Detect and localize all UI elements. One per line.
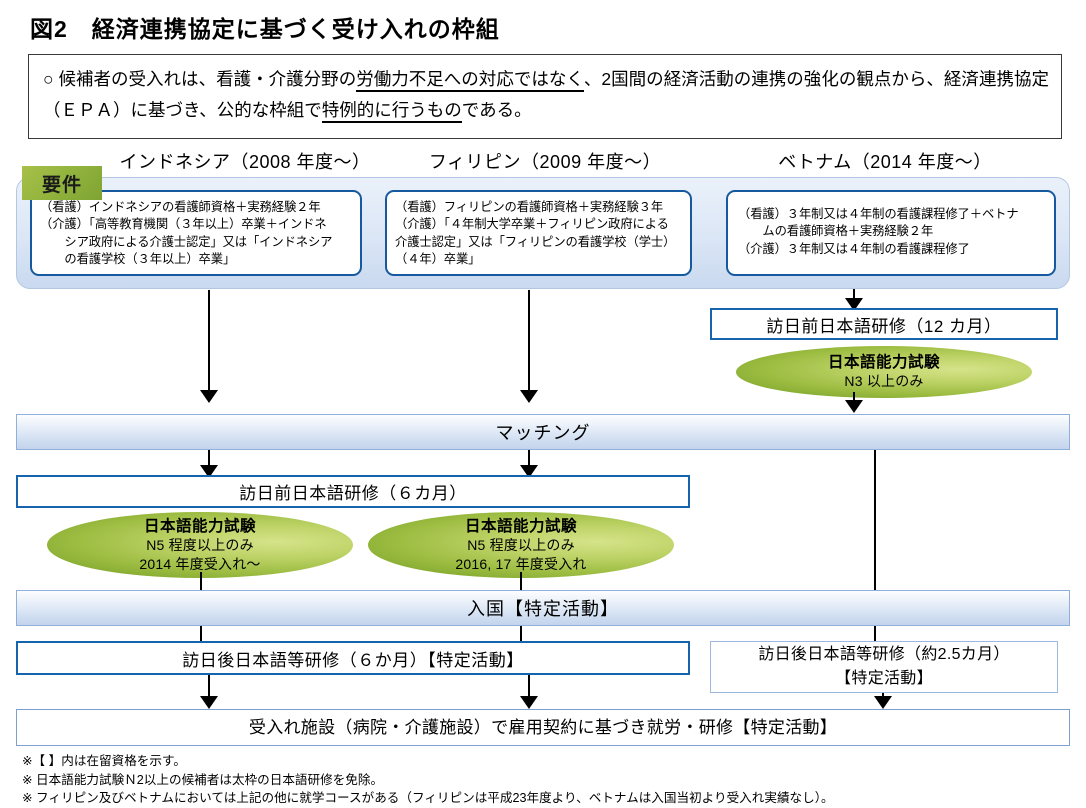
connector-post-vietnam-to-employment	[874, 693, 892, 709]
connector-indonesia-to-matching	[200, 290, 218, 403]
requirement-text-philippines: （看護）フィリピンの看護師資格＋実務経験３年（介護）「４年制大学卒業＋フィリピン…	[395, 199, 684, 269]
connector-matching-to-pretraining-indonesia	[200, 450, 218, 478]
footnotes: ※【 】内は在留資格を示す。 ※ 日本語能力試験Ｎ2以上の候補者は太枠の日本語研…	[22, 752, 1072, 808]
connector-vietnam-to-matching	[845, 392, 863, 413]
ellipse-jlpt-philippines: 日本語能力試験 N5 程度以上のみ 2016, 17 年度受入れ	[368, 512, 674, 578]
ellipse-vietnam-jlpt-line1: 日本語能力試験	[828, 353, 940, 372]
column-header-indonesia: インドネシア（2008 年度〜）	[95, 148, 395, 174]
footnote-3: ※ フィリピン及びベトナムにおいては上記の他に就学コースがある（フィリピンは平成…	[22, 789, 1072, 808]
ellipse-jlpt-indonesia: 日本語能力試験 N5 程度以上のみ 2014 年度受入れ〜	[47, 512, 353, 578]
lead-statement-box: ○ 候補者の受入れは、看護・介護分野の労働力不足への対応ではなく、2国間の経済活…	[28, 54, 1062, 139]
box-employment: 受入れ施設（病院・介護施設）で雇用契約に基づき就労・研修【特定活動】	[16, 709, 1070, 746]
connector-post-philippines-to-employment	[520, 675, 538, 709]
ellipse-jlpt-philippines-line2: N5 程度以上のみ	[467, 536, 575, 555]
bar-matching-label: マッチング	[496, 419, 591, 445]
footnote-1: ※【 】内は在留資格を示す。	[22, 752, 1072, 771]
ellipse-jlpt-indonesia-line2: N5 程度以上のみ	[146, 536, 254, 555]
ellipse-jlpt-indonesia-line1: 日本語能力試験	[144, 517, 256, 536]
requirement-text-indonesia: （看護）インドネシアの看護師資格＋実務経験２年（介護）「高等教育機関（３年以上）…	[40, 199, 354, 269]
lead-underline-2: 特例的に行うもの	[322, 100, 462, 123]
ellipse-jlpt-philippines-line1: 日本語能力試験	[465, 517, 577, 536]
lead-underline-1: 労働力不足への対応ではなく	[356, 69, 584, 92]
connector-philippines-to-matching	[520, 290, 538, 403]
box-employment-label: 受入れ施設（病院・介護施設）で雇用契約に基づき就労・研修【特定活動】	[249, 716, 837, 740]
box-post-training-2-5months-line2: 【特定活動】	[835, 667, 933, 691]
connector-jlpt-philippines-to-entry	[520, 572, 522, 590]
bar-entry: 入国【特定活動】	[16, 590, 1070, 626]
connector-jlpt-indonesia-to-entry	[200, 572, 202, 590]
box-pretraining-6months-label: 訪日前日本語研修（６カ月）	[239, 479, 467, 504]
column-header-philippines: フィリピン（2009 年度〜）	[400, 148, 690, 174]
requirement-box-philippines: （看護）フィリピンの看護師資格＋実務経験３年（介護）「４年制大学卒業＋フィリピン…	[385, 190, 692, 276]
box-post-training-2-5months: 訪日後日本語等研修（約2.5カ月） 【特定活動】	[710, 641, 1058, 693]
ellipse-vietnam-jlpt-line2: N3 以上のみ	[844, 372, 923, 391]
lead-statement-text: ○ 候補者の受入れは、看護・介護分野の労働力不足への対応ではなく、2国間の経済活…	[43, 64, 1049, 126]
connector-vietnam-matching-to-entry	[874, 450, 876, 590]
ellipse-vietnam-jlpt: 日本語能力試験 N3 以上のみ	[736, 346, 1032, 398]
footnote-2: ※ 日本語能力試験Ｎ2以上の候補者は太枠の日本語研修を免除。	[22, 771, 1072, 790]
connector-post-indonesia-to-employment	[200, 675, 218, 709]
ellipse-jlpt-indonesia-line3: 2014 年度受入れ〜	[139, 555, 260, 574]
box-post-training-2-5months-line1: 訪日後日本語等研修（約2.5カ月）	[758, 643, 1009, 667]
lead-part-1: ○ 候補者の受入れは、看護・介護分野の	[43, 69, 356, 89]
page-title: 図2 経済連携協定に基づく受け入れの枠組	[30, 10, 930, 44]
ellipse-jlpt-philippines-line3: 2016, 17 年度受入れ	[455, 555, 586, 574]
column-header-vietnam: ベトナム（2014 年度〜）	[715, 148, 1055, 174]
bar-entry-label: 入国【特定活動】	[467, 595, 619, 621]
box-pretraining-6months: 訪日前日本語研修（６カ月）	[16, 475, 690, 508]
box-post-training-6months: 訪日後日本語等研修（６か月）【特定活動】	[16, 641, 690, 675]
requirement-tab-label: 要件	[22, 166, 102, 200]
box-vietnam-pretraining-label: 訪日前日本語研修（12 カ月）	[766, 312, 1001, 337]
bar-matching: マッチング	[16, 414, 1070, 450]
lead-part-3: である。	[462, 100, 532, 120]
requirement-box-indonesia: （看護）インドネシアの看護師資格＋実務経験２年（介護）「高等教育機関（３年以上）…	[30, 190, 362, 276]
requirement-box-vietnam: （看護）３年制又は４年制の看護課程修了＋ベトナ ムの看護師資格＋実務経験２年（介…	[726, 190, 1056, 276]
box-vietnam-pretraining: 訪日前日本語研修（12 カ月）	[710, 308, 1058, 340]
box-post-training-6months-label: 訪日後日本語等研修（６か月）【特定活動】	[182, 646, 524, 671]
connector-matching-to-pretraining-philippines	[520, 450, 538, 478]
requirement-text-vietnam: （看護）３年制又は４年制の看護課程修了＋ベトナ ムの看護師資格＋実務経験２年（介…	[738, 206, 1048, 258]
